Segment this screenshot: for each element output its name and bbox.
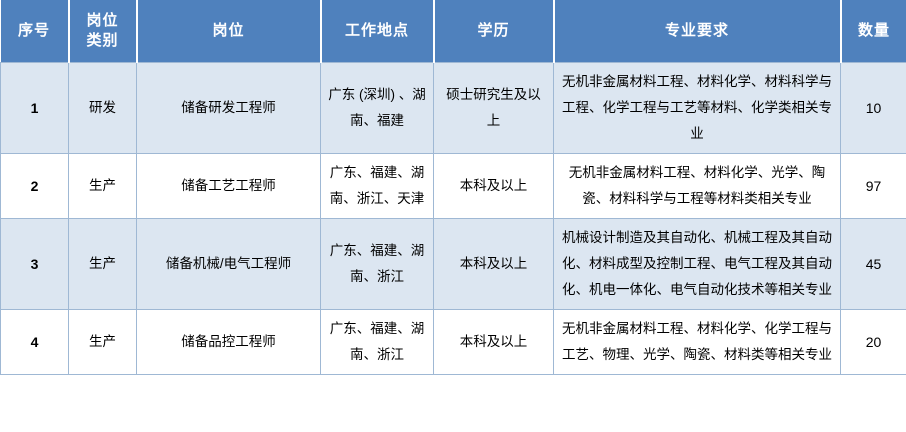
cell-location: 广东、福建、湖南、浙江 — [321, 310, 434, 375]
cell-post: 储备机械/电气工程师 — [137, 219, 321, 310]
cell-seq: 3 — [1, 219, 69, 310]
cell-education: 本科及以上 — [434, 310, 554, 375]
cell-count: 45 — [841, 219, 906, 310]
table-row: 4 生产 储备品控工程师 广东、福建、湖南、浙江 本科及以上 无机非金属材料工程… — [1, 310, 906, 375]
cell-post: 储备研发工程师 — [137, 63, 321, 154]
table-body: 1 研发 储备研发工程师 广东 (深圳) 、湖南、福建 硕士研究生及以上 无机非… — [1, 63, 906, 375]
table-header-row: 序号 岗位 类别 岗位 工作地点 学历 专业要求 数量 — [1, 0, 906, 63]
cell-count: 97 — [841, 154, 906, 219]
cell-education: 硕士研究生及以上 — [434, 63, 554, 154]
cell-location: 广东、福建、湖南、浙江 — [321, 219, 434, 310]
column-header-category: 岗位 类别 — [69, 0, 137, 63]
cell-education: 本科及以上 — [434, 154, 554, 219]
cell-location: 广东、福建、湖南、浙江、天津 — [321, 154, 434, 219]
table-header: 序号 岗位 类别 岗位 工作地点 学历 专业要求 数量 — [1, 0, 906, 63]
table-row: 1 研发 储备研发工程师 广东 (深圳) 、湖南、福建 硕士研究生及以上 无机非… — [1, 63, 906, 154]
column-header-category-line2: 类别 — [86, 32, 118, 49]
cell-category: 生产 — [69, 154, 137, 219]
cell-major: 无机非金属材料工程、材料化学、光学、陶瓷、材料科学与工程等材料类相关专业 — [554, 154, 841, 219]
cell-post: 储备工艺工程师 — [137, 154, 321, 219]
column-header-category-line1: 岗位 — [86, 12, 118, 29]
table-row: 2 生产 储备工艺工程师 广东、福建、湖南、浙江、天津 本科及以上 无机非金属材… — [1, 154, 906, 219]
cell-category: 生产 — [69, 310, 137, 375]
column-header-count: 数量 — [841, 0, 906, 63]
cell-major: 无机非金属材料工程、材料化学、材料科学与工程、化学工程与工艺等材料、化学类相关专… — [554, 63, 841, 154]
table-row: 3 生产 储备机械/电气工程师 广东、福建、湖南、浙江 本科及以上 机械设计制造… — [1, 219, 906, 310]
cell-category: 研发 — [69, 63, 137, 154]
cell-count: 10 — [841, 63, 906, 154]
cell-major: 无机非金属材料工程、材料化学、化学工程与工艺、物理、光学、陶瓷、材料类等相关专业 — [554, 310, 841, 375]
cell-category: 生产 — [69, 219, 137, 310]
column-header-seq: 序号 — [1, 0, 69, 63]
cell-seq: 2 — [1, 154, 69, 219]
column-header-post: 岗位 — [137, 0, 321, 63]
cell-education: 本科及以上 — [434, 219, 554, 310]
cell-major: 机械设计制造及其自动化、机械工程及其自动化、材料成型及控制工程、电气工程及其自动… — [554, 219, 841, 310]
cell-count: 20 — [841, 310, 906, 375]
column-header-major: 专业要求 — [554, 0, 841, 63]
column-header-education: 学历 — [434, 0, 554, 63]
cell-post: 储备品控工程师 — [137, 310, 321, 375]
column-header-location: 工作地点 — [321, 0, 434, 63]
cell-seq: 1 — [1, 63, 69, 154]
cell-seq: 4 — [1, 310, 69, 375]
recruitment-positions-table: 序号 岗位 类别 岗位 工作地点 学历 专业要求 数量 1 研发 储备研发工程师… — [0, 0, 906, 375]
cell-location: 广东 (深圳) 、湖南、福建 — [321, 63, 434, 154]
